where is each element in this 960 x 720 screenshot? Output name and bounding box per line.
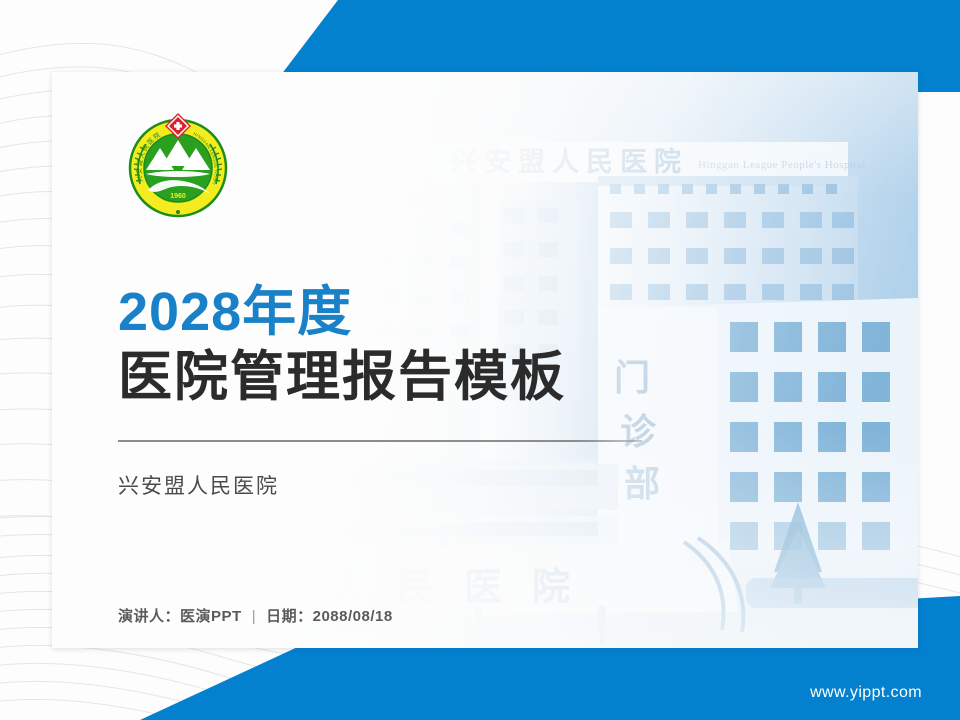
date-value: 2088/08/18 [313,608,393,625]
photo-building-sign-cn: 兴安盟人民医院 [450,146,688,177]
title-block: 2028年度 医院管理报告模板 兴安盟人民医院 [118,282,642,500]
presentation-slide: 兴安盟人民医院 Hinggan League People's Hospital [0,0,960,720]
presenter-value: 医演PPT [180,608,242,625]
organization-name: 兴安盟人民医院 [118,470,642,500]
content-card: 兴安盟人民医院 Hinggan League People's Hospital [52,72,918,648]
hospital-emblem-logo: 兴安盟人民医院 HINGGAN LEAGUE HOSPITAL 1960 [114,112,242,220]
photo-wall-sign: 人民医院 [328,567,600,609]
footer-separator: | [242,608,266,625]
date-label: 日期： [266,608,313,625]
title-divider [118,440,642,442]
emblem-year: 1960 [170,193,186,200]
presenter-date-line: 演讲人：医演PPT|日期：2088/08/18 [118,605,393,626]
presenter-label: 演讲人： [118,608,180,625]
photo-building-sign-latin: Hinggan League People's Hospital [698,159,866,171]
title-year: 2028年度 [118,282,642,342]
site-url-watermark: www.yippt.com [810,684,922,702]
page-title: 医院管理报告模板 [118,346,642,410]
